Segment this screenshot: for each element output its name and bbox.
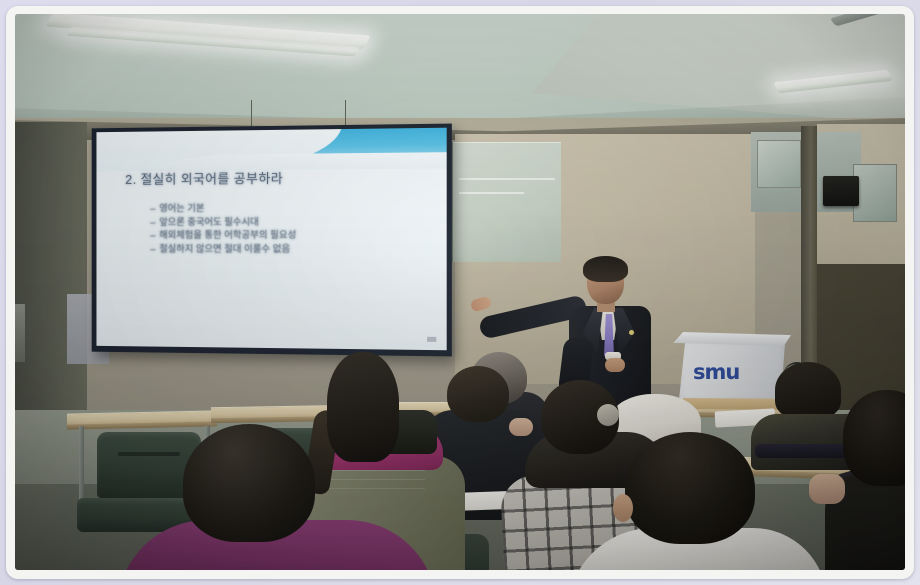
lecture-hall-photograph: 2. 절실히 외국어를 공부하라 –영어는 기본 –앞으론 중국어도 필수시대 … (15, 14, 905, 570)
slide-bullet-item: –해외체험을 통한 어학공부의 필요성 (150, 229, 296, 243)
board-chalk-streak (459, 178, 554, 180)
audience-young-man-white-shirt (591, 432, 811, 570)
wall-mounted-speaker-icon (823, 176, 859, 206)
slide-bullet-item: –앞으론 중국어도 필수시대 (150, 215, 296, 229)
wall-switch-strip[interactable] (15, 304, 25, 362)
slide-bullet-text: 해외체험을 통한 어학공부의 필요성 (159, 230, 296, 241)
hair-tie (597, 404, 619, 426)
audience-head (625, 432, 755, 544)
audience-head (843, 390, 905, 486)
slide-bullet-text: 절실하지 않으면 절대 이룰수 없음 (159, 243, 290, 254)
board-chalk-streak (459, 192, 524, 194)
bullet-dash-icon: – (150, 217, 155, 228)
slide-bullet-list: –영어는 기본 –앞으론 중국어도 필수시대 –해외체험을 통한 어학공부의 필… (150, 202, 296, 256)
presenter-resting-hand (605, 358, 625, 372)
presenter-lapel-pin (629, 330, 634, 335)
photo-frame: 2. 절실히 외국어를 공부하라 –영어는 기본 –앞으론 중국어도 필수시대 … (6, 6, 914, 579)
slide-corner-mark (427, 337, 436, 342)
slide-bullet-text: 앞으론 중국어도 필수시대 (159, 217, 258, 228)
audience-hand (809, 474, 845, 504)
presenter-hair (583, 256, 628, 282)
slide-bullet-item: –절실하지 않으면 절대 이룰수 없음 (150, 242, 296, 256)
window-pane (853, 164, 897, 222)
projection-screen[interactable]: 2. 절실히 외국어를 공부하라 –영어는 기본 –앞으론 중국어도 필수시대 … (92, 124, 452, 357)
slide-bullet-text: 영어는 기본 (159, 203, 204, 214)
audience-person-right-dark-jacket (803, 362, 905, 570)
audience-ear (613, 494, 633, 522)
slide-bullet-item: –영어는 기본 (150, 202, 296, 216)
audience-head (183, 424, 315, 542)
window-pane (757, 140, 801, 188)
audience-front-row-purple-top (135, 424, 435, 570)
presentation-slide: 2. 절실히 외국어를 공부하라 –영어는 기본 –앞으론 중국어도 필수시대 … (96, 128, 446, 351)
bullet-dash-icon: – (150, 230, 155, 241)
bullet-dash-icon: – (150, 203, 155, 214)
slide-title: 2. 절실히 외국어를 공부하라 (125, 168, 283, 188)
green-whiteboard (451, 142, 561, 262)
bullet-dash-icon: – (150, 243, 155, 254)
left-dark-wall (15, 122, 87, 422)
